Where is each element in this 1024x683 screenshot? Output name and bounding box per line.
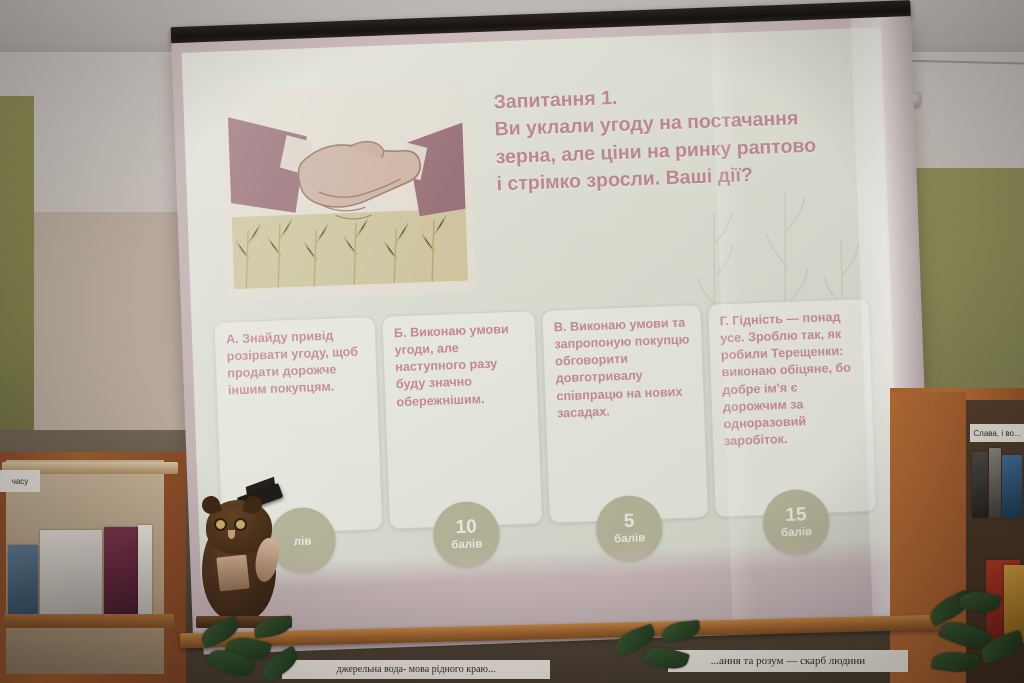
bookshelf-left-shelf xyxy=(4,614,174,628)
bookshelf-left-label: часу xyxy=(0,470,40,492)
book-item xyxy=(989,448,1001,518)
bookshelf-right-sign: Слава, і во... xyxy=(970,424,1024,442)
plant-left-foreground xyxy=(614,616,710,683)
banner-left: джерельна вода- мова рідного краю... xyxy=(282,660,550,679)
owl-statue xyxy=(196,494,292,624)
answer-option-b-text: Б. Виконаю умови угоди, але наступного р… xyxy=(394,320,529,410)
book-item xyxy=(104,527,138,617)
answer-option-c-text: В. Виконаю умови та запропоную покупцю о… xyxy=(554,314,696,422)
book-item xyxy=(972,452,988,518)
question-heading: Запитання 1. Ви уклали угоду на постачан… xyxy=(493,76,872,199)
plant-leaf xyxy=(661,620,701,642)
answer-options: А. Знайду привід розірвати угоду, щоб пр… xyxy=(213,298,882,572)
answer-option-a-score-unit: лів xyxy=(294,536,312,548)
plant-leaf xyxy=(253,615,293,638)
owl-beak xyxy=(228,530,235,539)
owl-book xyxy=(216,555,249,592)
owl-eye-left xyxy=(216,520,225,529)
answer-option-d-score-number: 15 xyxy=(785,506,807,526)
answer-option-b[interactable]: Б. Виконаю умови угоди, але наступного р… xyxy=(381,310,543,529)
answer-option-c[interactable]: В. Виконаю умови та запропоную покупцю о… xyxy=(541,304,709,524)
plant-leaf xyxy=(642,642,690,673)
book-item xyxy=(8,545,38,617)
handshake-illustration xyxy=(219,82,477,301)
book-item xyxy=(40,530,102,617)
owl-eye-right xyxy=(236,520,245,529)
answer-option-a-text: А. Знайду привід розірвати угоду, щоб пр… xyxy=(226,326,368,400)
plant-leaf xyxy=(931,649,979,675)
answer-option-d-score-unit: балів xyxy=(781,527,812,540)
plant-center xyxy=(196,612,316,683)
answer-option-b-score-unit: балів xyxy=(451,539,482,552)
answer-option-c-score-number: 5 xyxy=(623,512,634,531)
book-item xyxy=(1002,455,1022,518)
book-item xyxy=(138,525,152,617)
classroom-presentation-photo: Запитання 1. Ви уклали угоду на постачан… xyxy=(0,0,1024,683)
wall-olive-left xyxy=(0,96,34,476)
plant-right xyxy=(926,590,1024,683)
answer-option-b-score-number: 10 xyxy=(455,518,477,538)
answer-option-c-score-unit: балів xyxy=(614,533,645,546)
